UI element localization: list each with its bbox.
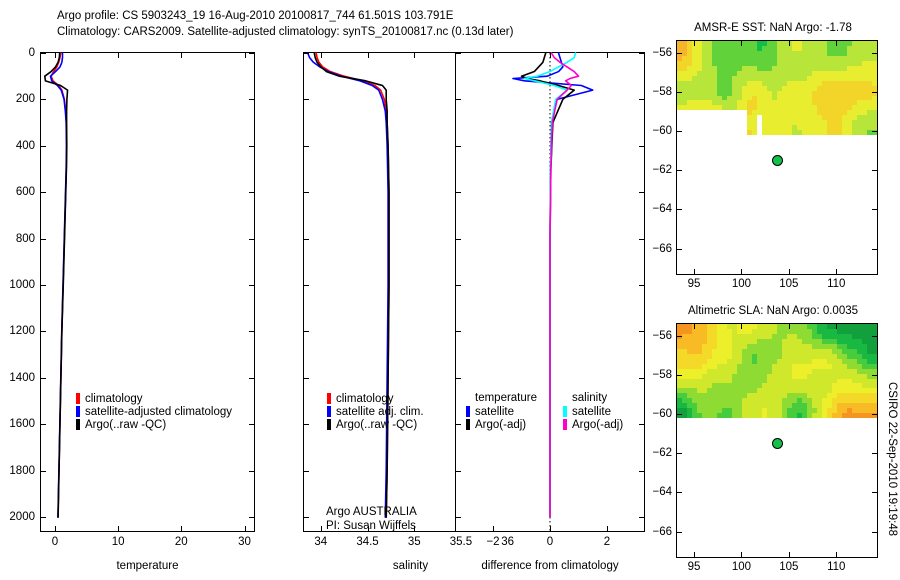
legend-label: climatology (85, 393, 143, 405)
y-tickmark (304, 517, 309, 518)
y-tickmark (249, 517, 254, 518)
y-tick-label: 2000 (0, 511, 35, 523)
y-tickmark (249, 331, 254, 332)
y-tickmark (304, 192, 309, 193)
y-tickmark (872, 92, 877, 93)
y-tickmark (872, 453, 877, 454)
legend-label: Argo(-adj) (475, 419, 526, 431)
x-tickmark (321, 526, 322, 531)
series-argo-raw-qc- (45, 53, 68, 517)
x-tickmark (181, 526, 182, 531)
y-tickmark (456, 99, 461, 100)
float-position-marker[interactable] (772, 155, 783, 166)
y-tick-label: 1600 (0, 418, 35, 430)
x-tickmark (414, 53, 415, 58)
temperature-profile-panel (40, 52, 255, 532)
x-tickmark (741, 41, 742, 46)
x-tickmark (550, 53, 551, 58)
x-tick-label: 35 (408, 536, 421, 548)
x-tickmark (55, 53, 56, 58)
legend-label: satellite (572, 406, 611, 418)
y-tickmark (677, 532, 682, 533)
legend-label: satellite-adjusted climatology (85, 406, 232, 418)
series-satellite-adjusted-climatology (50, 53, 66, 517)
y-tickmark (456, 331, 461, 332)
x-tickmark (607, 526, 608, 531)
x-tick-label: 0 (52, 536, 58, 548)
map-cell (872, 552, 877, 557)
argo-profile-figure: Argo profile: CS 5903243_19 16-Aug-2010 … (0, 0, 900, 580)
y-tick-label: −58 (643, 86, 672, 98)
page-subtitle: Climatology: CARS2009. Satellite-adjuste… (57, 26, 513, 38)
credit-line-2: PI: Susan Wijffels (326, 519, 417, 533)
y-tick-label: −64 (643, 486, 672, 498)
salinity-legend-entry: satellite (563, 405, 623, 418)
temperature-legend-entry: Argo(-adj) (466, 418, 537, 431)
y-tickmark (677, 53, 682, 54)
difference-profile-plot (456, 53, 644, 531)
y-tickmark (872, 209, 877, 210)
x-tick-label: 30 (238, 536, 251, 548)
y-tickmark (639, 517, 644, 518)
x-tick-label: −2 (486, 536, 499, 548)
legend-color-swatch (563, 419, 567, 430)
y-tick-label: −60 (643, 125, 672, 137)
legend-label: Argo(..raw -QC) (85, 419, 166, 431)
legend-label: Argo(-adj) (572, 419, 623, 431)
map-cell (872, 269, 877, 274)
difference-profile-panel (455, 52, 645, 532)
y-tickmark (41, 192, 46, 193)
x-tickmark (245, 53, 246, 58)
x-tickmark (789, 41, 790, 46)
y-tick-label: 400 (0, 140, 35, 152)
y-tickmark (639, 285, 644, 286)
y-tickmark (304, 285, 309, 286)
y-tickmark (677, 209, 682, 210)
y-tickmark (304, 378, 309, 379)
y-tickmark (872, 131, 877, 132)
credit-line-1: Argo AUSTRALIA (326, 505, 417, 519)
legend-color-swatch (327, 419, 331, 430)
x-tickmark (836, 552, 837, 557)
y-tickmark (872, 249, 877, 250)
y-tickmark (41, 99, 46, 100)
y-tickmark (456, 378, 461, 379)
y-tickmark (677, 131, 682, 132)
x-tickmark (741, 324, 742, 329)
y-tickmark (639, 146, 644, 147)
series-satellite-adj-clim- (308, 53, 388, 517)
x-tick-label: 36 (501, 536, 514, 548)
y-tick-label: −60 (643, 408, 672, 420)
x-tickmark (245, 526, 246, 531)
y-tickmark (677, 92, 682, 93)
y-tickmark (872, 532, 877, 533)
y-tickmark (456, 517, 461, 518)
csiro-timestamp: CSIRO 22-Sep-2010 19:19:48 (886, 382, 898, 536)
y-tick-label: −66 (643, 526, 672, 538)
x-tick-label: 34 (314, 536, 327, 548)
x-tickmark (789, 324, 790, 329)
y-tickmark (249, 53, 254, 54)
y-tickmark (456, 471, 461, 472)
float-position-marker[interactable] (772, 438, 783, 449)
y-tickmark (304, 146, 309, 147)
temperature-legend-heading: temperature (466, 392, 537, 405)
x-tickmark (550, 526, 551, 531)
x-tickmark (836, 324, 837, 329)
y-tick-label: −64 (643, 203, 672, 215)
x-tickmark (694, 552, 695, 557)
x-tick-label: 110 (827, 278, 845, 290)
y-tick-label: 1400 (0, 372, 35, 384)
y-tickmark (639, 192, 644, 193)
y-tickmark (41, 239, 46, 240)
x-tickmark (836, 41, 837, 46)
y-tickmark (41, 146, 46, 147)
legend-color-swatch (563, 406, 567, 417)
temperature-legend-column: temperaturesatelliteArgo(-adj) (466, 392, 537, 431)
y-tick-label: 1800 (0, 465, 35, 477)
x-tickmark (694, 324, 695, 329)
x-tickmark (694, 269, 695, 274)
x-tick-label: 20 (175, 536, 188, 548)
y-tickmark (639, 239, 644, 240)
y-tickmark (456, 146, 461, 147)
y-tick-label: 600 (0, 186, 35, 198)
x-tickmark (118, 53, 119, 58)
y-tickmark (639, 471, 644, 472)
legend-label: satellite (475, 406, 514, 418)
x-tick-label: 105 (779, 561, 798, 573)
y-tickmark (304, 331, 309, 332)
y-tickmark (456, 285, 461, 286)
y-tick-label: 800 (0, 233, 35, 245)
y-tickmark (872, 53, 877, 54)
x-tickmark (321, 53, 322, 58)
y-tickmark (304, 99, 309, 100)
legend-color-swatch (466, 419, 470, 430)
y-tickmark (41, 424, 46, 425)
salinity-legend-entry: Argo(-adj) (563, 418, 623, 431)
series-climatology (316, 53, 389, 517)
y-tick-label: −62 (643, 164, 672, 176)
temperature-legend-entry: satellite (466, 405, 537, 418)
y-tickmark (456, 424, 461, 425)
y-tickmark (872, 336, 877, 337)
altimetric-sla-title: Altimetric SLA: NaN Argo: 0.0035 (668, 305, 878, 317)
y-tickmark (41, 471, 46, 472)
legend-label: Argo(..raw -QC) (336, 419, 417, 431)
y-tickmark (41, 53, 46, 54)
difference-xaxis-label: difference from climatology (455, 560, 645, 572)
y-tickmark (872, 492, 877, 493)
temperature-profile-plot (41, 53, 254, 531)
y-tickmark (872, 170, 877, 171)
y-tickmark (872, 375, 877, 376)
y-tick-label: 1000 (0, 279, 35, 291)
temperature-legend-entry: Argo(..raw -QC) (76, 418, 232, 431)
temperature-legend: climatologysatellite-adjusted climatolog… (76, 392, 232, 431)
y-tickmark (677, 492, 682, 493)
y-tick-label: −62 (643, 447, 672, 459)
x-tick-label: 100 (732, 278, 751, 290)
salinity-legend-column: salinitysatelliteArgo(-adj) (563, 392, 623, 431)
x-tickmark (368, 53, 369, 58)
y-tickmark (249, 239, 254, 240)
y-tickmark (304, 53, 309, 54)
y-tickmark (456, 239, 461, 240)
page-title: Argo profile: CS 5903243_19 16-Aug-2010 … (57, 10, 453, 22)
y-tickmark (41, 517, 46, 518)
x-tick-label: 2 (604, 536, 610, 548)
y-tickmark (677, 336, 682, 337)
salinity-legend-entry: climatology (327, 392, 424, 405)
y-tickmark (639, 424, 644, 425)
y-tickmark (677, 249, 682, 250)
legend-label: satellite adj. clim. (336, 406, 424, 418)
y-tickmark (677, 414, 682, 415)
x-tickmark (741, 269, 742, 274)
x-tickmark (694, 41, 695, 46)
x-tick-label: 110 (827, 561, 845, 573)
x-tick-label: 10 (112, 536, 125, 548)
y-tickmark (41, 285, 46, 286)
y-tickmark (304, 424, 309, 425)
y-tickmark (41, 378, 46, 379)
argo-australia-credit: Argo AUSTRALIA PI: Susan Wijffels (326, 505, 417, 533)
y-tickmark (249, 99, 254, 100)
legend-color-swatch (76, 419, 80, 430)
y-tickmark (677, 170, 682, 171)
difference-legend: temperaturesatelliteArgo(-adj)salinitysa… (466, 392, 623, 431)
x-tick-label: 100 (732, 561, 751, 573)
y-tickmark (249, 471, 254, 472)
y-tick-label: 0 (0, 47, 35, 59)
x-tick-label: 35.5 (450, 536, 472, 548)
y-tick-label: 200 (0, 93, 35, 105)
salinity-legend-entry: Argo(..raw -QC) (327, 418, 424, 431)
y-tickmark (41, 331, 46, 332)
y-tickmark (677, 453, 682, 454)
y-tickmark (456, 53, 461, 54)
amsre-sst-map-panel (676, 40, 878, 275)
x-tickmark (836, 269, 837, 274)
y-tickmark (249, 424, 254, 425)
legend-color-swatch (327, 393, 331, 404)
legend-color-swatch (327, 406, 331, 417)
y-tickmark (249, 146, 254, 147)
y-tickmark (872, 414, 877, 415)
series-salinity-argo-adj- (550, 53, 578, 517)
x-tick-label: 95 (688, 561, 701, 573)
y-tick-label: −66 (643, 243, 672, 255)
salinity-legend: climatologysatellite adj. clim.Argo(..ra… (327, 392, 424, 431)
temperature-legend-entry: climatology (76, 392, 232, 405)
y-tickmark (304, 471, 309, 472)
x-tickmark (55, 526, 56, 531)
x-tick-label: 34.5 (356, 536, 378, 548)
x-tickmark (181, 53, 182, 58)
temperature-legend-entry: satellite-adjusted climatology (76, 405, 232, 418)
y-tick-label: −56 (643, 47, 672, 59)
x-tickmark (789, 552, 790, 557)
legend-color-swatch (466, 406, 470, 417)
altimetric-sla-map-panel (676, 323, 878, 558)
legend-color-swatch (76, 393, 80, 404)
y-tickmark (249, 192, 254, 193)
x-tick-label: 0 (547, 536, 553, 548)
x-tickmark (493, 53, 494, 58)
legend-label: climatology (336, 393, 394, 405)
x-tickmark (607, 53, 608, 58)
salinity-legend-heading: salinity (563, 392, 623, 405)
y-tickmark (249, 285, 254, 286)
y-tick-label: −56 (643, 330, 672, 342)
y-tickmark (677, 375, 682, 376)
x-tickmark (741, 552, 742, 557)
legend-color-swatch (76, 406, 80, 417)
series-temperature-argo-adj- (522, 53, 575, 517)
x-tickmark (789, 269, 790, 274)
y-tickmark (456, 192, 461, 193)
series-argo-raw-qc- (314, 53, 389, 517)
salinity-legend-entry: satellite adj. clim. (327, 405, 424, 418)
y-tickmark (304, 239, 309, 240)
x-tickmark (493, 526, 494, 531)
y-tickmark (639, 99, 644, 100)
y-tick-label: −58 (643, 369, 672, 381)
temperature-xaxis-label: temperature (40, 560, 255, 572)
x-tickmark (118, 526, 119, 531)
y-tick-label: 1200 (0, 325, 35, 337)
y-tickmark (249, 378, 254, 379)
x-tick-label: 95 (688, 278, 701, 290)
x-tick-label: 105 (779, 278, 798, 290)
amsre-sst-title: AMSR-E SST: NaN Argo: -1.78 (668, 22, 878, 34)
